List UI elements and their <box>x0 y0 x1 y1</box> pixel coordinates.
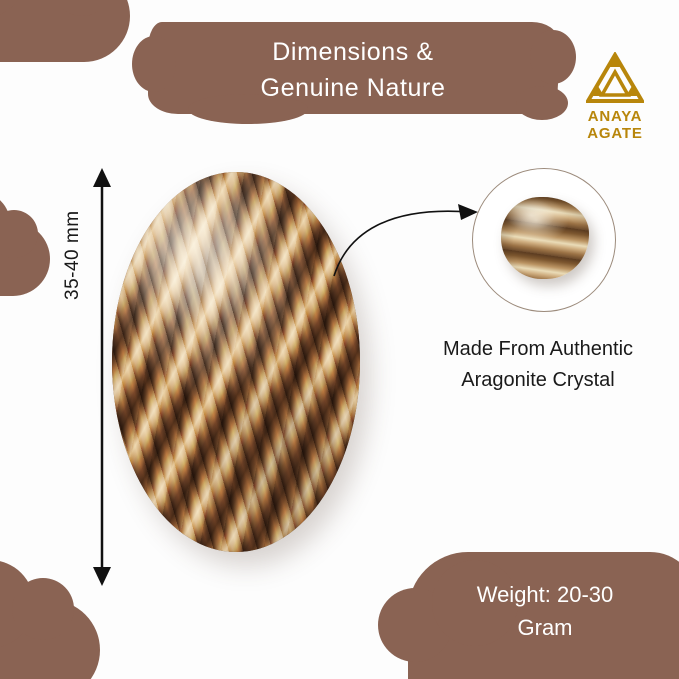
inset-product-image <box>472 168 616 312</box>
brand-logo: ANAYA AGATE <box>559 52 671 162</box>
main-product-image <box>112 172 360 552</box>
decorative-cloud-mid-left <box>0 222 50 296</box>
decorative-cloud-bottom-left <box>0 600 100 679</box>
callout-arrow-icon <box>330 190 490 280</box>
triangle-logo-icon <box>586 52 644 104</box>
brand-name: ANAYA AGATE <box>587 108 642 142</box>
product-caption: Made From Authentic Aragonite Crystal <box>396 334 679 396</box>
product-infographic: Dimensions & Genuine Nature ANAYA AGATE … <box>0 0 679 679</box>
dimension-label: 35-40 mm <box>62 150 84 300</box>
header-banner-shape <box>148 22 558 114</box>
decorative-cloud-top-left <box>0 0 130 62</box>
weight-banner-shape <box>408 552 679 679</box>
